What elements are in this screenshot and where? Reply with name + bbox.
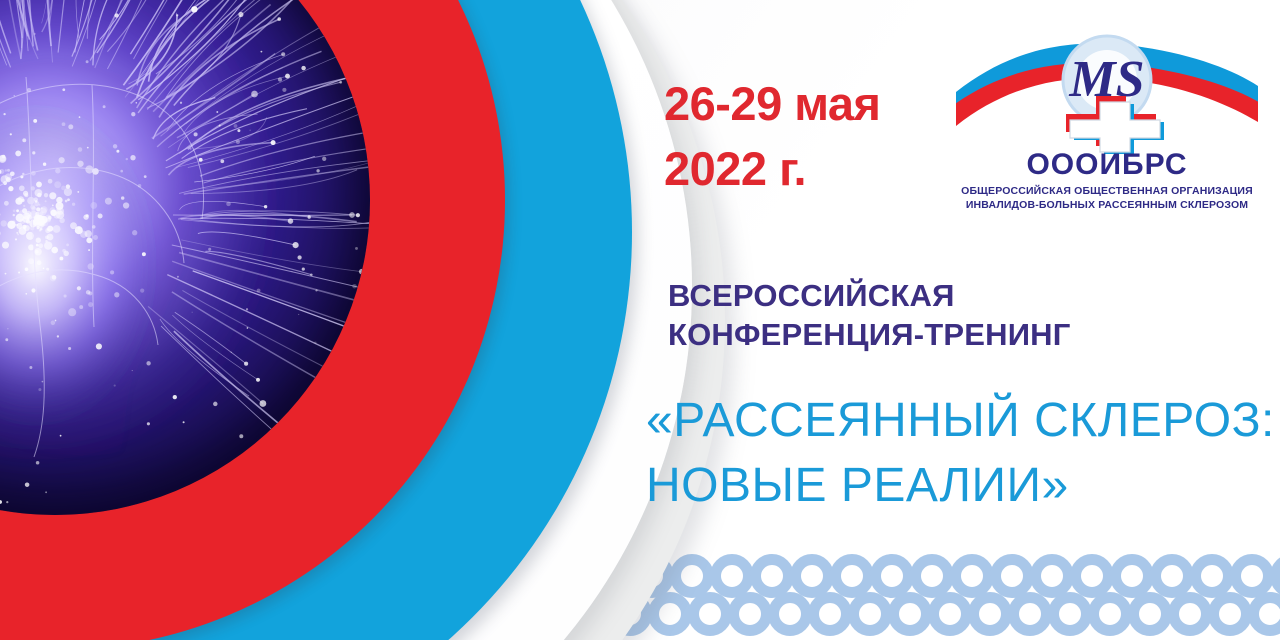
ring-dot xyxy=(648,592,692,636)
ring-dot xyxy=(928,592,972,636)
logo-abbreviation: ОООИБРС xyxy=(952,148,1262,182)
ring-dot xyxy=(688,592,732,636)
event-dates: 26-29 мая 2022 г. xyxy=(664,72,880,202)
neural-network-illustration xyxy=(0,0,370,515)
ring-dot xyxy=(1088,592,1132,636)
ring-dot xyxy=(1208,592,1252,636)
ring-dot xyxy=(1168,592,1212,636)
ring-dot xyxy=(1128,592,1172,636)
ring-dot xyxy=(1008,592,1052,636)
ring-dot xyxy=(888,592,932,636)
ring-dot xyxy=(1048,592,1092,636)
ring-dot xyxy=(848,592,892,636)
logo-mark-icon: MS xyxy=(952,34,1262,154)
banner-canvas: 26-29 мая 2022 г. ВСЕРОССИЙСКАЯ КОНФЕРЕН… xyxy=(0,0,1280,640)
ring-dot xyxy=(808,592,852,636)
ring-dot xyxy=(968,592,1012,636)
ring-dot xyxy=(1248,592,1280,636)
ring-dot xyxy=(768,592,812,636)
event-title: «РАССЕЯННЫЙ СКЛЕРОЗ: НОВЫЕ РЕАЛИИ» xyxy=(646,388,1275,519)
logo-caption: ОБЩЕРОССИЙСКАЯ ОБЩЕСТВЕННАЯ ОРГАНИЗАЦИЯ … xyxy=(952,184,1262,213)
ring-dot xyxy=(728,592,772,636)
organization-logo[interactable]: MS ОООИБРС ОБЩЕРОССИЙСКАЯ ОБЩЕСТВЕННАЯ О… xyxy=(952,34,1262,214)
neural-brain-image xyxy=(0,0,370,515)
event-kicker: ВСЕРОССИЙСКАЯ КОНФЕРЕНЦИЯ-ТРЕНИНГ xyxy=(668,276,1071,354)
